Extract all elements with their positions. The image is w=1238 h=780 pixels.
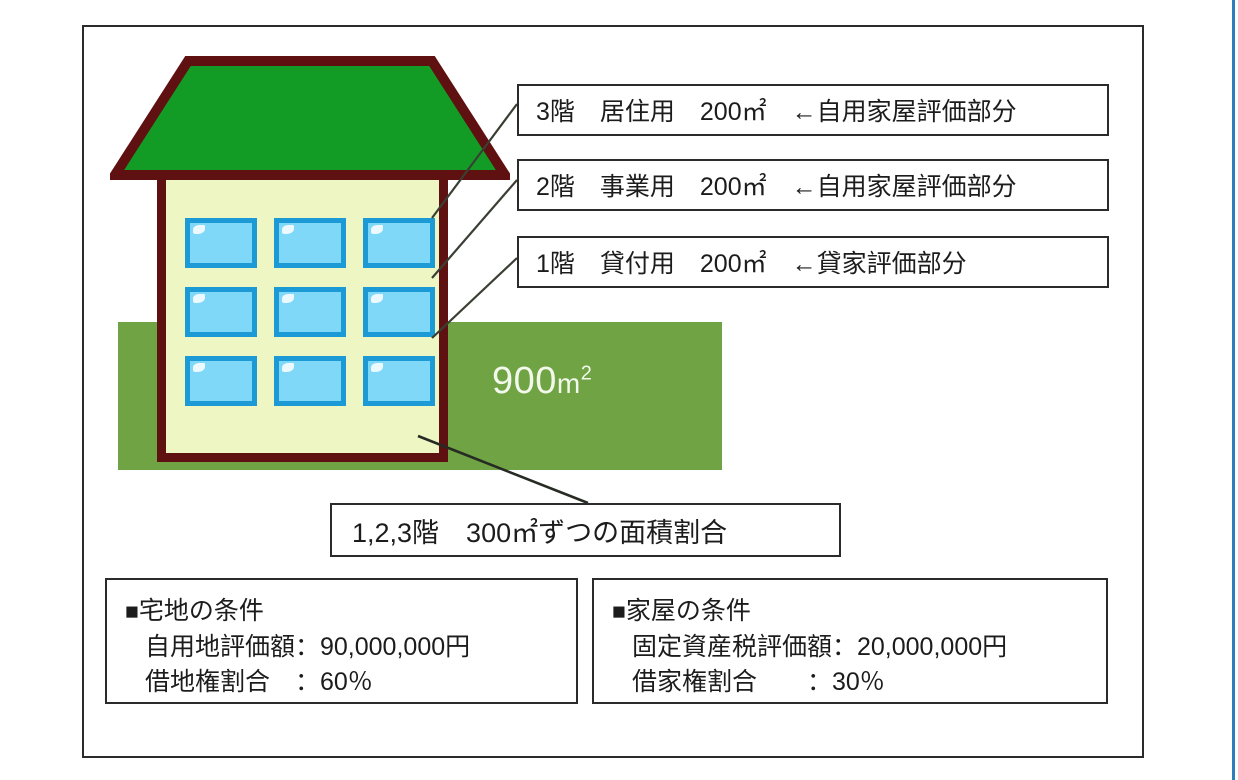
- window: [363, 356, 435, 406]
- window-glass-highlight: [282, 363, 294, 372]
- callout-floor-1: 1階 貸付用 200㎡ ←貸家評価部分: [517, 236, 1109, 288]
- land-area-unit-superscript: 2: [581, 362, 593, 384]
- house-illustration: [110, 55, 510, 410]
- window-row-floor-1: [185, 356, 435, 406]
- callout-floor-3-text: 3階 居住用 200㎡ ←自用家屋評価部分: [536, 92, 1017, 128]
- condition-building-row-valuation: 固定資産税評価額：20,000,000円: [612, 630, 1106, 666]
- condition-box-land: ■宅地の条件 自用地評価額：90,000,000円 借地権割合 ：60％: [105, 578, 578, 704]
- window: [274, 287, 346, 337]
- condition-land-row-leasehold: 借地権割合 ：60％: [125, 665, 576, 701]
- window-glass-highlight: [193, 225, 205, 234]
- condition-building-row-leasehold: 借家権割合 ：30％: [612, 665, 1106, 701]
- land-area-label: 900m2: [492, 360, 692, 403]
- slide-page: 900m2: [0, 0, 1238, 780]
- callout-floor-1-text: 1階 貸付用 200㎡ ←貸家評価部分: [536, 244, 967, 280]
- callout-floor-2: 2階 事業用 200㎡ ←自用家屋評価部分: [517, 159, 1109, 211]
- condition-land-heading: ■宅地の条件: [125, 594, 576, 630]
- bullet-square-icon: ■: [612, 598, 626, 624]
- window-glass-highlight: [193, 294, 205, 303]
- callout-floor-2-text: 2階 事業用 200㎡ ←自用家屋評価部分: [536, 167, 1017, 203]
- window: [363, 218, 435, 268]
- condition-building-heading: ■家屋の条件: [612, 594, 1106, 630]
- window-row-floor-3: [185, 218, 435, 268]
- condition-box-building: ■家屋の条件 固定資産税評価額：20,000,000円 借家権割合 ：30％: [592, 578, 1108, 704]
- window: [274, 218, 346, 268]
- callout-area-ratio-text: 1,2,3階 300㎡ずつの面積割合: [352, 511, 727, 550]
- land-area-unit: m: [557, 368, 581, 399]
- page-edge-rule: [1232, 0, 1235, 780]
- window: [185, 218, 257, 268]
- window-glass-highlight: [282, 225, 294, 234]
- window: [363, 287, 435, 337]
- window: [274, 356, 346, 406]
- house-walls: [157, 171, 448, 462]
- window-glass-highlight: [371, 225, 383, 234]
- window-glass-highlight: [282, 294, 294, 303]
- window-row-floor-2: [185, 287, 435, 337]
- condition-building-heading-text: 家屋の条件: [626, 597, 751, 625]
- window-glass-highlight: [371, 294, 383, 303]
- window-glass-highlight: [193, 363, 205, 372]
- window: [185, 356, 257, 406]
- window-glass-highlight: [371, 363, 383, 372]
- callout-floor-3: 3階 居住用 200㎡ ←自用家屋評価部分: [517, 84, 1109, 136]
- bullet-square-icon: ■: [125, 598, 139, 624]
- condition-land-heading-text: 宅地の条件: [139, 597, 264, 625]
- condition-land-row-valuation: 自用地評価額：90,000,000円: [125, 630, 576, 666]
- window: [185, 287, 257, 337]
- house-roof: [110, 55, 510, 180]
- callout-area-ratio: 1,2,3階 300㎡ずつの面積割合: [330, 503, 841, 557]
